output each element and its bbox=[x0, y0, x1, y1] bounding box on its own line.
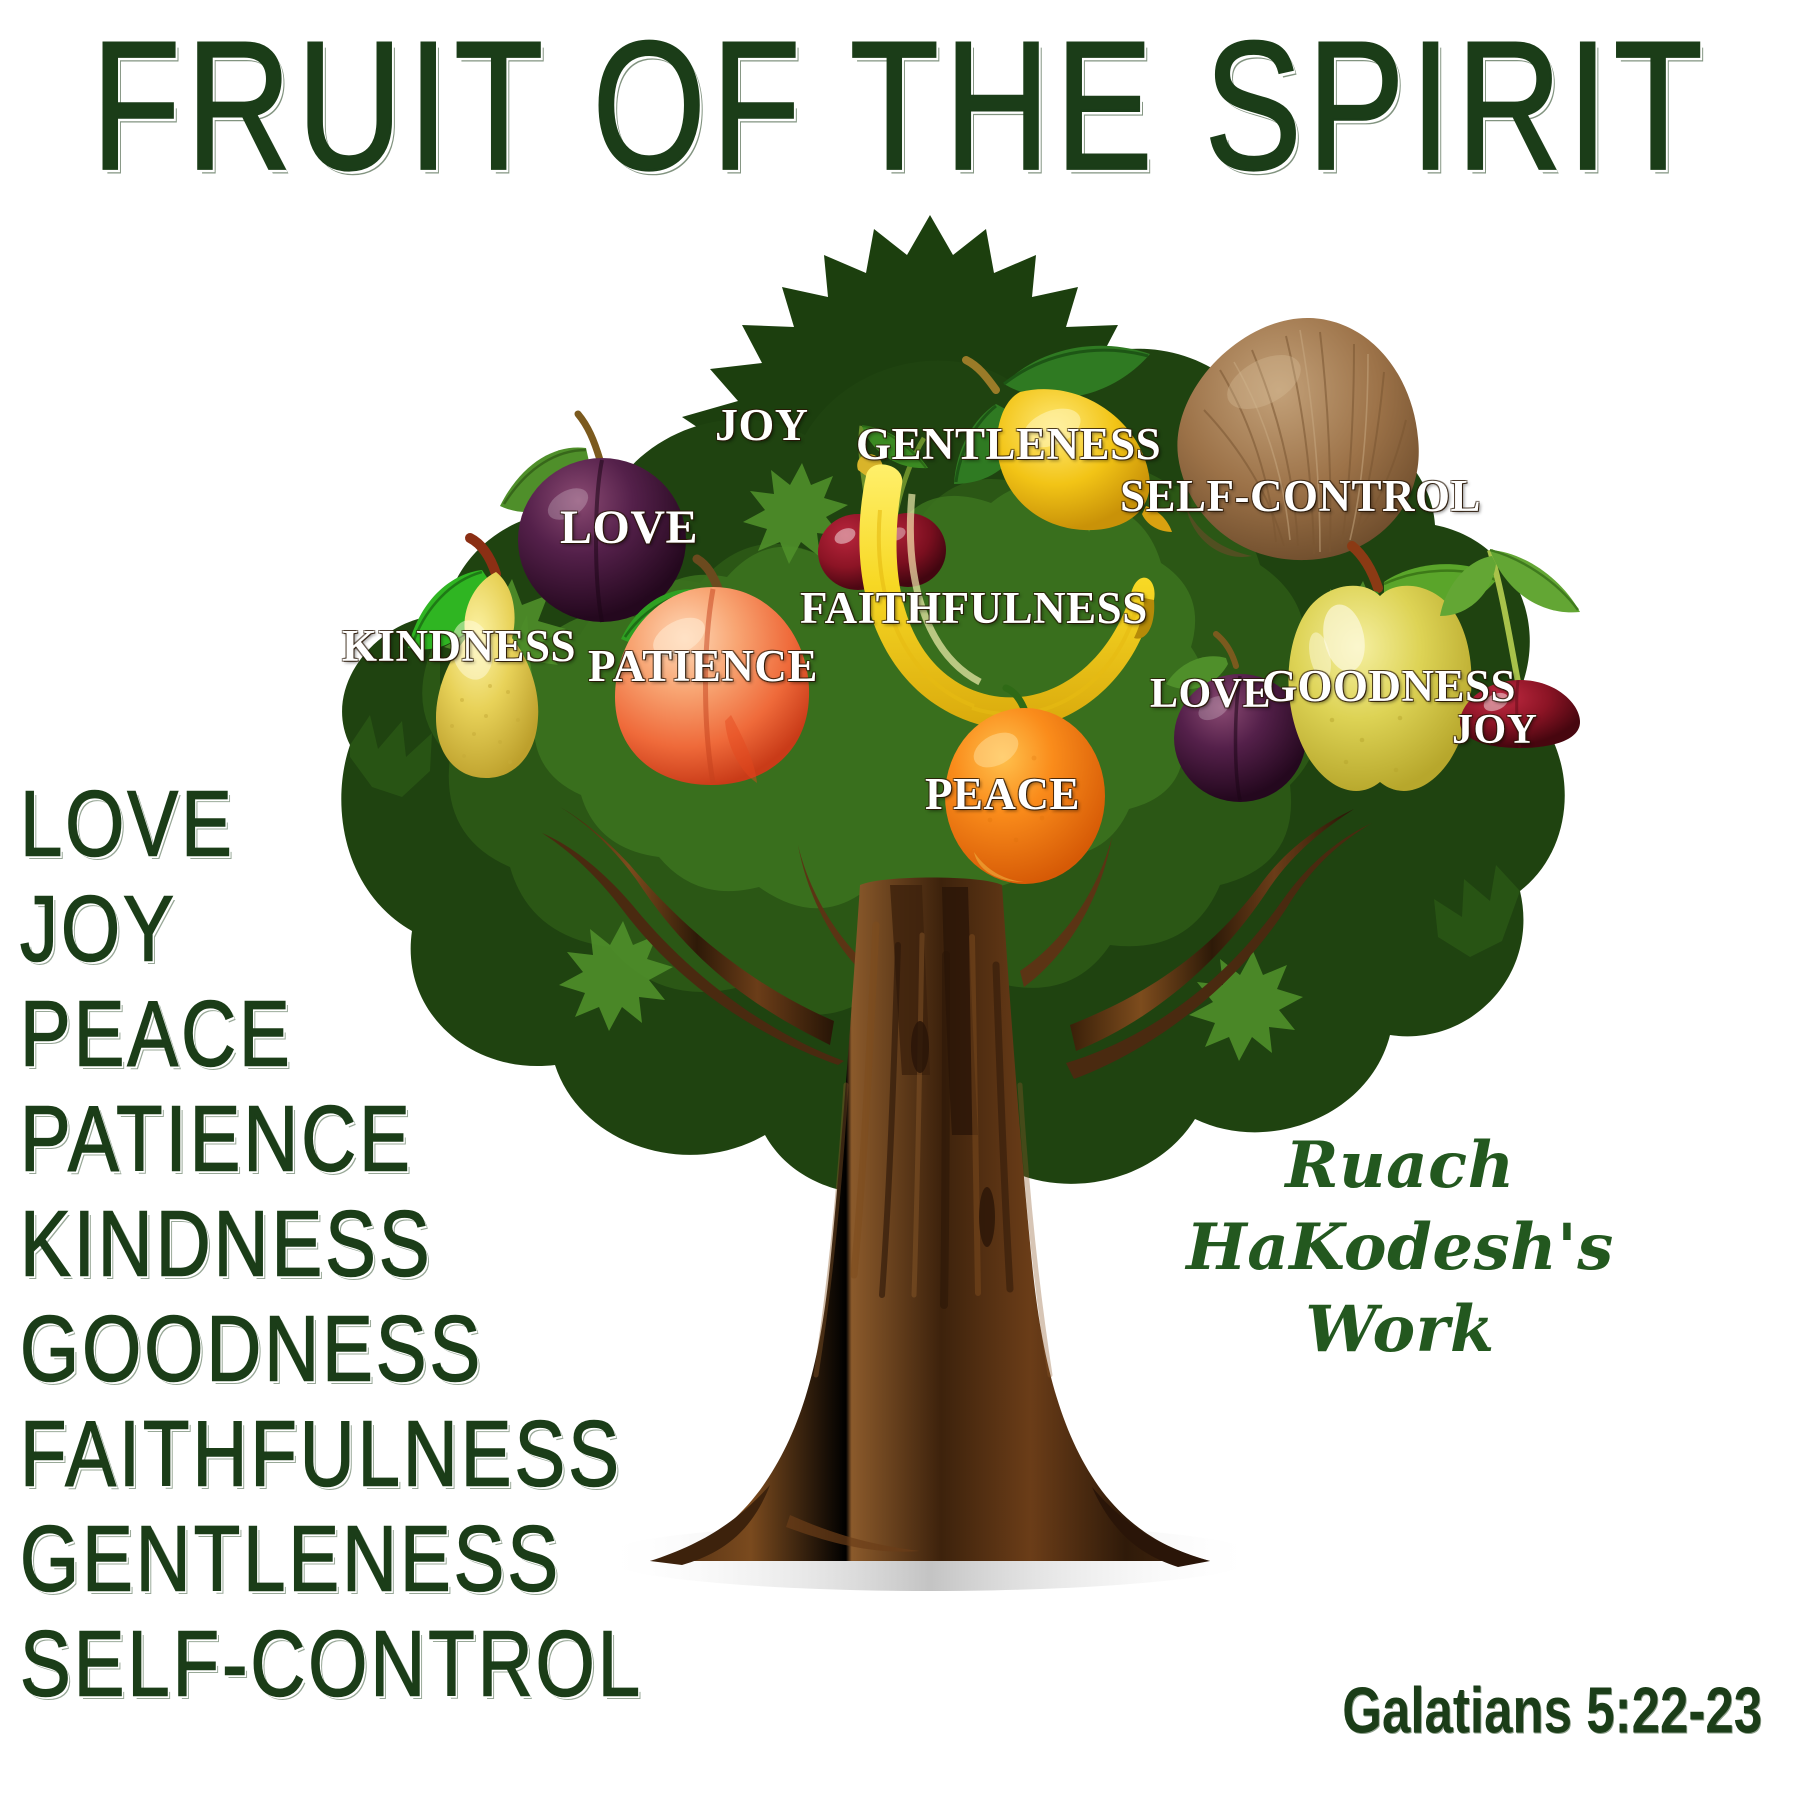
ruach-hakodesh-caption: Ruach HaKodesh's Work bbox=[1090, 1125, 1710, 1371]
virtue-word-patience: PATIENCE bbox=[20, 1085, 643, 1194]
virtue-word-gentleness: GENTLENESS bbox=[20, 1505, 643, 1614]
virtue-word-love: LOVE bbox=[20, 770, 643, 879]
caption-line-1: Ruach HaKodesh's bbox=[1090, 1125, 1710, 1289]
fruit-orange-peace bbox=[930, 680, 1120, 890]
virtue-word-kindness: KINDNESS bbox=[20, 1190, 643, 1299]
verse-reference: Galatians 5:22-23 bbox=[1342, 1673, 1762, 1748]
caption-line-2: Work bbox=[1090, 1289, 1710, 1371]
virtue-word-list: LOVE JOY PEACE PATIENCE KINDNESS GOODNES… bbox=[20, 770, 643, 1715]
page-title: FRUIT OF THE SPIRIT bbox=[27, 10, 1773, 202]
virtue-word-goodness: GOODNESS bbox=[20, 1295, 643, 1404]
virtue-word-peace: PEACE bbox=[20, 980, 643, 1089]
virtue-word-self-control: SELF-CONTROL bbox=[20, 1610, 643, 1719]
fruit-pear-kindness bbox=[390, 520, 600, 790]
virtue-word-faithfulness: FAITHFULNESS bbox=[20, 1400, 643, 1509]
virtue-word-joy: JOY bbox=[20, 875, 643, 984]
fruit-cherry-joy-right bbox=[1430, 530, 1610, 750]
